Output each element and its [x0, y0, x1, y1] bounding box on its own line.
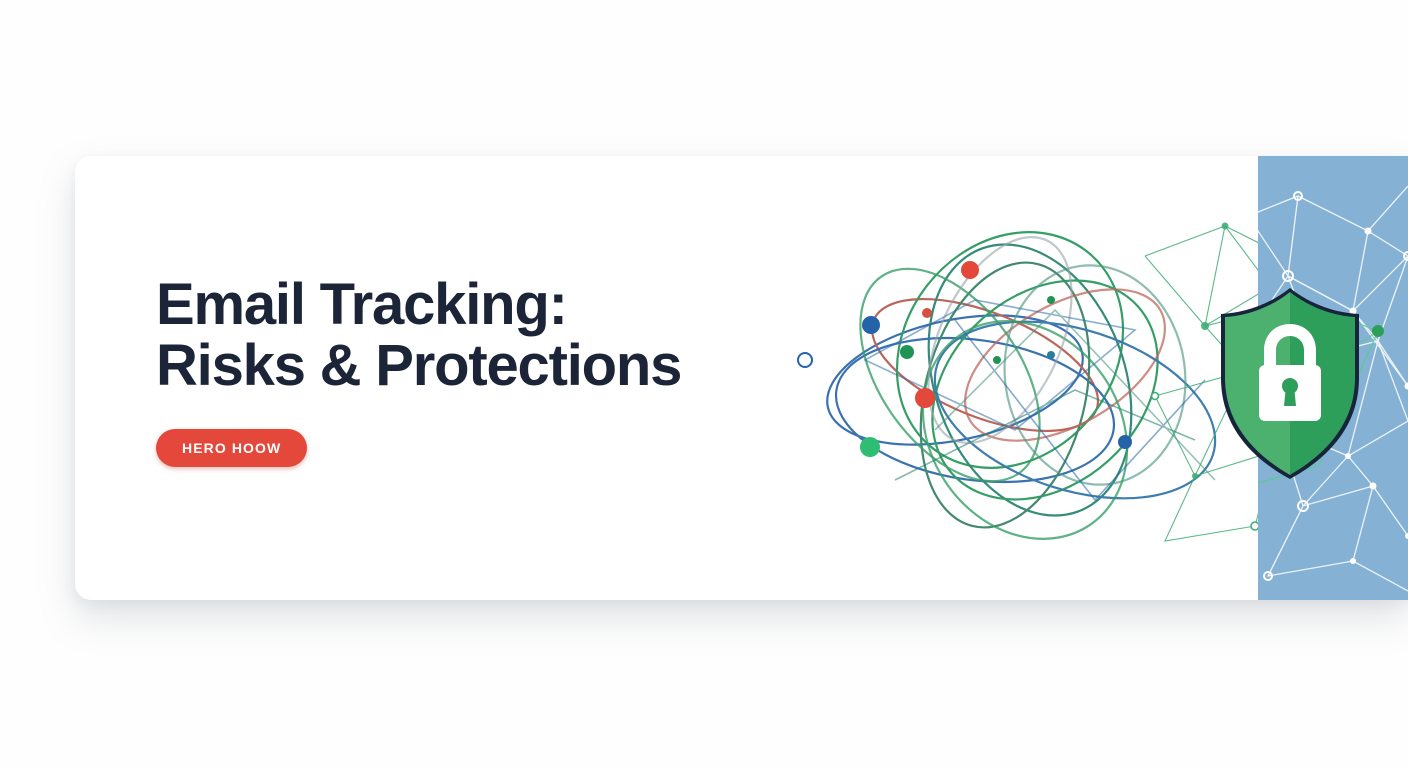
- panel-mesh-svg: [1258, 156, 1408, 600]
- orbit-nodes: [798, 261, 1132, 457]
- panel-mesh-green-lines: [1258, 306, 1378, 486]
- page-title: Email Tracking: Risks & Protections: [156, 274, 776, 397]
- orbits-svg: [775, 180, 1295, 580]
- panel-mesh-filled-nodes: [1315, 228, 1408, 565]
- right-blue-panel: [1258, 156, 1408, 600]
- panel-mesh-hollow-nodes: [1264, 192, 1408, 580]
- hero-card: Email Tracking: Risks & Protections HERO…: [75, 156, 1408, 600]
- orbit-ellipses: [815, 187, 1237, 579]
- panel-mesh-lines: [1258, 186, 1408, 591]
- page-stage: Email Tracking: Risks & Protections HERO…: [0, 0, 1408, 768]
- page-title-line-2: Risks & Protections: [156, 335, 776, 396]
- orbit-connector-lines: [865, 300, 1215, 500]
- page-title-line-1: Email Tracking:: [156, 274, 776, 335]
- network-orbits-graphic: [775, 180, 1295, 580]
- hero-cta-button[interactable]: HERO HOOW: [156, 429, 307, 467]
- hero-text-block: Email Tracking: Risks & Protections HERO…: [156, 274, 776, 467]
